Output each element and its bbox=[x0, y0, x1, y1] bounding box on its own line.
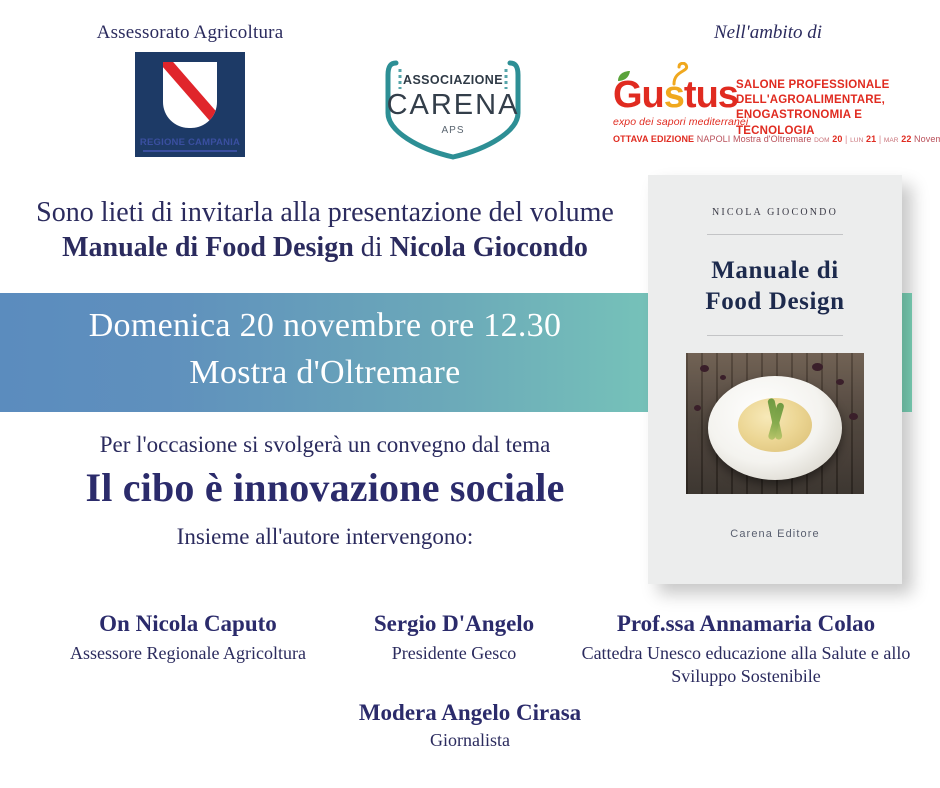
invitation-book-title: Manuale di Food Design bbox=[62, 232, 354, 263]
carena-aps-label: APS bbox=[378, 125, 528, 136]
gustus-word-part1: Gu bbox=[613, 74, 664, 116]
convegno-intro: Per l'occasione si svolgerà un convegno … bbox=[0, 432, 650, 458]
campania-red-band bbox=[163, 62, 217, 128]
book-cover-title: Manuale di Food Design bbox=[648, 255, 902, 317]
invitation-block: Sono lieti di invitarla alla presentazio… bbox=[0, 196, 650, 267]
gustus-tagline: expo dei sapori mediterranei bbox=[613, 116, 748, 128]
moderator-block: Modera Angelo Cirasa Giornalista bbox=[0, 700, 940, 751]
speaker-item: Sergio D'Angelo Presidente Gesco bbox=[336, 610, 572, 665]
moderator-role: Giornalista bbox=[0, 730, 940, 751]
date-banner-inner: Domenica 20 novembre ore 12.30 Mostra d'… bbox=[0, 293, 650, 397]
convegno-title: Il cibo è innovazione sociale bbox=[0, 458, 650, 518]
day3-num: 22 bbox=[901, 134, 911, 144]
day2-num: 21 bbox=[866, 134, 876, 144]
invitation-intro-line: Sono lieti di invitarla alla presentazio… bbox=[0, 196, 650, 229]
photo-crumb bbox=[700, 365, 709, 372]
speaker-name: On Nicola Caputo bbox=[40, 610, 336, 638]
book-cover-publisher: Carena Editore bbox=[648, 528, 902, 540]
edition-sep-1: | bbox=[842, 134, 850, 144]
day3-label: MAR bbox=[884, 137, 899, 144]
salone-line-1: SALONE PROFESSIONALE bbox=[736, 78, 928, 93]
book-cover-divider-bottom bbox=[707, 335, 843, 336]
speaker-item: Prof.ssa Annamaria Colao Cattedra Unesco… bbox=[572, 610, 920, 688]
gustus-edition-line: OTTAVA EDIZIONE NAPOLI Mostra d'Oltremar… bbox=[613, 134, 940, 144]
logo-row: Assessorato Agricoltura REGIONE CAMPANIA… bbox=[0, 0, 940, 172]
gustus-word-curl: s bbox=[664, 74, 684, 116]
gustus-wordmark: Gustus bbox=[613, 76, 738, 114]
speaker-role: Presidente Gesco bbox=[336, 642, 572, 665]
edition-label: OTTAVA EDIZIONE bbox=[613, 134, 694, 144]
speaker-item: On Nicola Caputo Assessore Regionale Agr… bbox=[40, 610, 336, 665]
regione-campania-logo-block: Assessorato Agricoltura REGIONE CAMPANIA bbox=[60, 22, 320, 157]
book-cover-divider-top bbox=[707, 234, 843, 235]
campania-divider bbox=[143, 150, 237, 152]
photo-crumb bbox=[812, 363, 823, 371]
day1-num: 20 bbox=[832, 134, 842, 144]
book-cover-photo bbox=[686, 353, 864, 494]
event-date-line: Domenica 20 novembre ore 12.30 bbox=[0, 303, 650, 350]
day1-label: DOM bbox=[814, 137, 829, 144]
edition-venue: NAPOLI Mostra d'Oltremare bbox=[697, 134, 812, 144]
convegno-block: Per l'occasione si svolgerà un convegno … bbox=[0, 432, 650, 550]
speaker-role: Assessore Regionale Agricoltura bbox=[40, 642, 336, 665]
carena-name-label: CARENA bbox=[378, 89, 528, 122]
gustus-word-part2: tus bbox=[684, 74, 738, 116]
assessorato-caption: Assessorato Agricoltura bbox=[60, 22, 320, 44]
photo-crumb bbox=[849, 413, 858, 420]
gustus-logo-block: Nell'ambito di Gustus expo dei sapori me… bbox=[608, 22, 928, 149]
regione-campania-shield-icon: REGIONE CAMPANIA bbox=[135, 52, 245, 157]
campania-shield-shape bbox=[163, 62, 217, 128]
book-title-line-1: Manuale di bbox=[648, 255, 902, 286]
photo-crumb bbox=[694, 405, 701, 411]
book-title-line-2: Food Design bbox=[648, 286, 902, 317]
carena-logo-block: ASSOCIAZIONE CARENA APS bbox=[378, 55, 528, 160]
regione-campania-label: REGIONE CAMPANIA bbox=[135, 137, 245, 148]
invitation-author: Nicola Giocondo bbox=[390, 232, 588, 263]
speakers-intro: Insieme all'autore intervengono: bbox=[0, 524, 650, 550]
speaker-role: Cattedra Unesco educazione alla Salute e… bbox=[572, 642, 920, 689]
edition-month: Novembre 2022 bbox=[914, 134, 940, 144]
book-cover-author: NICOLA GIOCONDO bbox=[648, 207, 902, 218]
speaker-name: Sergio D'Angelo bbox=[336, 610, 572, 638]
moderator-name: Modera Angelo Cirasa bbox=[0, 700, 940, 726]
book-cover: NICOLA GIOCONDO Manuale di Food Design C… bbox=[648, 175, 902, 584]
edition-sep-2: | bbox=[876, 134, 884, 144]
day2-label: LUN bbox=[850, 137, 863, 144]
gustus-salone-text: SALONE PROFESSIONALE DELL'AGROALIMENTARE… bbox=[736, 78, 928, 139]
photo-crumb bbox=[720, 375, 726, 380]
event-venue-line: Mostra d'Oltremare bbox=[0, 350, 650, 397]
carena-associazione-label: ASSOCIAZIONE bbox=[378, 73, 528, 87]
speakers-row: On Nicola Caputo Assessore Regionale Agr… bbox=[40, 610, 920, 688]
gustus-wordmark-wrap: Gustus expo dei sapori mediterranei SALO… bbox=[608, 64, 928, 149]
invitation-connector: di bbox=[354, 232, 390, 263]
invitation-title-line: Manuale di Food Design di Nicola Giocond… bbox=[0, 229, 650, 267]
salone-line-2: DELL'AGROALIMENTARE, bbox=[736, 93, 928, 108]
photo-crumb bbox=[836, 379, 844, 385]
nellambito-caption: Nell'ambito di bbox=[608, 22, 928, 44]
speaker-name: Prof.ssa Annamaria Colao bbox=[572, 610, 920, 638]
